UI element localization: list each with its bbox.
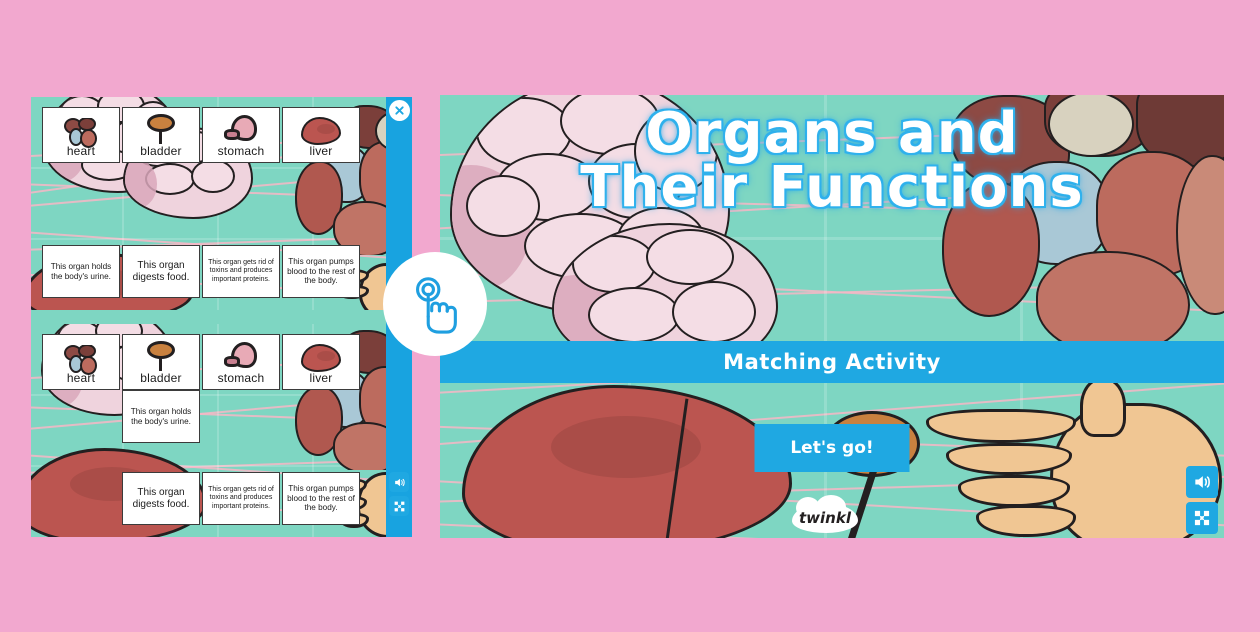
function-card-row-bottom: This organ digests food. This organ gets… <box>122 472 360 525</box>
function-card[interactable]: This organ digests food. <box>122 245 200 298</box>
organ-card-row-bottom: heart bladder stomach <box>42 334 360 390</box>
organ-card-row-top: heart bladder stomach <box>42 107 360 163</box>
heart-illustration-large <box>940 95 1224 345</box>
function-card[interactable]: This organ gets rid of toxins and produc… <box>202 472 280 525</box>
stomach-icon <box>223 113 259 145</box>
organ-card[interactable]: liver <box>282 107 360 163</box>
logo-text: twinkl <box>792 503 858 533</box>
heart-icon <box>64 118 98 148</box>
close-icon[interactable] <box>389 100 410 121</box>
main-activity-panel: Organs and Their Functions Matching Acti… <box>440 95 1224 538</box>
function-card[interactable]: This organ gets rid of toxins and produc… <box>202 245 280 298</box>
function-card[interactable]: This organ pumps blood to the rest of th… <box>282 472 360 525</box>
fullscreen-exit-glyph <box>393 500 406 513</box>
subtitle-label: Matching Activity <box>723 350 941 374</box>
organ-card[interactable]: stomach <box>202 107 280 163</box>
hand-illustration <box>930 389 1220 538</box>
sound-icon[interactable] <box>1186 466 1218 498</box>
function-card-row-top: This organ holds the body's urine. This … <box>42 245 360 298</box>
subtitle-banner: Matching Activity <box>440 341 1224 383</box>
organ-card-label: liver <box>309 372 332 389</box>
organ-card[interactable]: liver <box>282 334 360 390</box>
fullscreen-exit-icon[interactable] <box>1186 502 1218 534</box>
stomach-icon <box>223 340 259 372</box>
left-preview-panel: heart bladder stomach <box>31 97 411 537</box>
liver-icon <box>301 117 341 145</box>
left-panel-state-top: heart bladder stomach <box>31 97 411 310</box>
organ-card-label: bladder <box>140 145 181 162</box>
bladder-icon <box>144 340 178 372</box>
organ-card[interactable]: stomach <box>202 334 280 390</box>
matched-function-card[interactable]: This organ holds the body's urine. <box>122 390 200 443</box>
organ-card[interactable]: bladder <box>122 334 200 390</box>
function-card[interactable]: This organ digests food. <box>122 472 200 525</box>
fullscreen-exit-glyph <box>1192 508 1212 528</box>
bladder-icon <box>144 113 178 145</box>
organ-card-label: stomach <box>218 145 265 162</box>
sound-glyph <box>1192 472 1212 492</box>
fullscreen-exit-icon[interactable] <box>389 496 409 516</box>
organ-card[interactable]: heart <box>42 334 120 390</box>
organ-card-label: stomach <box>218 372 265 389</box>
tap-gesture-icon[interactable] <box>383 252 487 356</box>
organ-card[interactable]: heart <box>42 107 120 163</box>
liver-icon <box>301 344 341 372</box>
screenshot-root: heart bladder stomach <box>0 0 1260 632</box>
lets-go-button[interactable]: Let's go! <box>755 424 910 472</box>
twinkl-logo: twinkl <box>792 503 858 533</box>
organ-card-label: liver <box>309 145 332 162</box>
left-panel-state-bottom: heart bladder stomach <box>31 324 411 537</box>
sound-glyph <box>393 476 406 489</box>
tap-hand-glyph <box>404 273 466 335</box>
heart-icon <box>64 345 98 375</box>
organ-card-label: bladder <box>140 372 181 389</box>
sound-icon[interactable] <box>389 472 409 492</box>
close-glyph <box>394 105 405 116</box>
organ-card[interactable]: bladder <box>122 107 200 163</box>
function-card[interactable]: This organ holds the body's urine. <box>42 245 120 298</box>
function-card[interactable]: This organ pumps blood to the rest of th… <box>282 245 360 298</box>
